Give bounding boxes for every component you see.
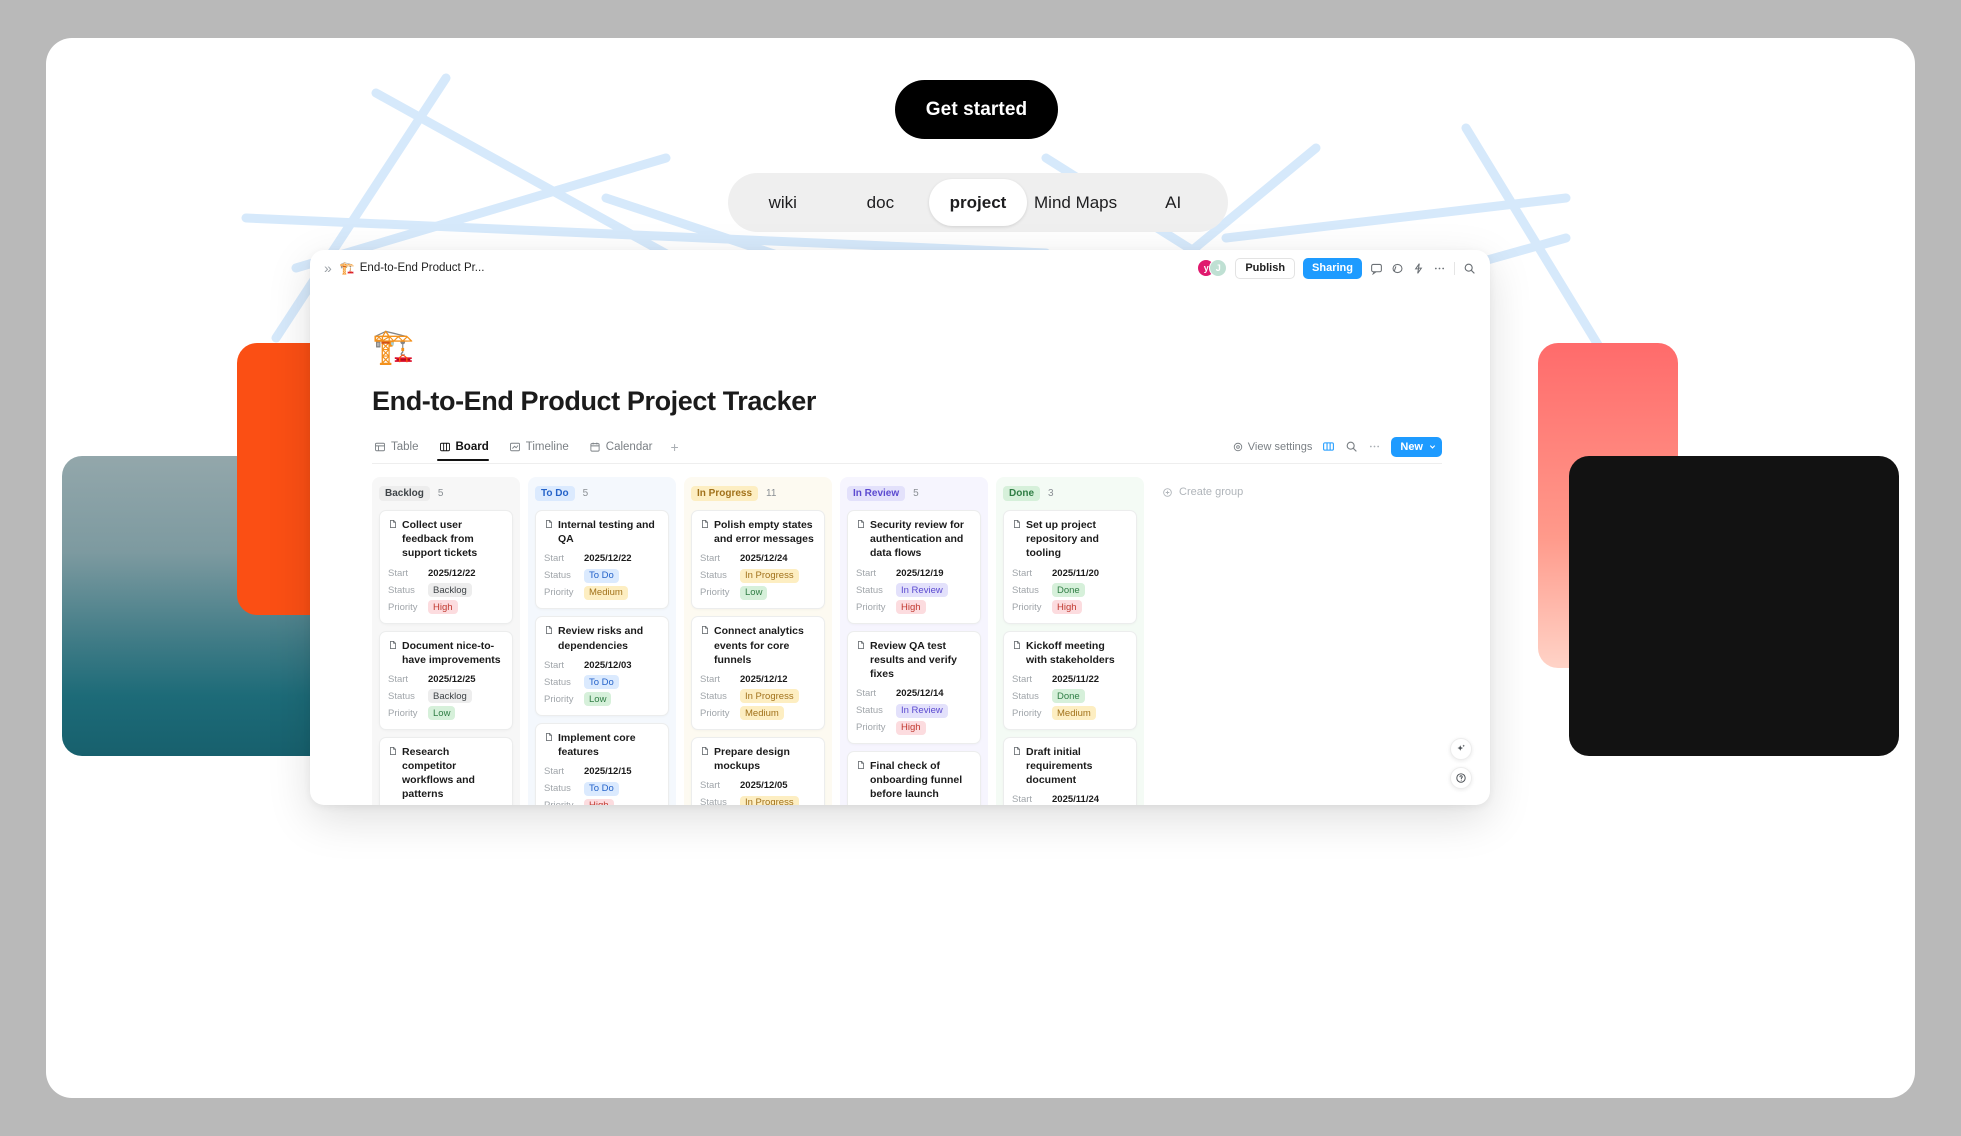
page-icon	[388, 746, 398, 756]
card-property-status: StatusIn Progress	[700, 568, 816, 583]
page-icon	[388, 640, 398, 650]
column-name: Done	[1003, 486, 1040, 501]
card-property-status: StatusTo Do	[544, 781, 660, 796]
card-title: Security review for authentication and d…	[856, 518, 972, 561]
page-icon	[856, 760, 866, 770]
question-mark-icon	[1455, 772, 1467, 784]
nav-tab-project[interactable]: project	[929, 179, 1027, 226]
column-count: 5	[913, 488, 919, 499]
tag: Low	[740, 586, 767, 600]
card-property-start: Start2025/11/20	[1012, 566, 1128, 581]
tag: High	[896, 721, 926, 735]
board-card[interactable]: Research competitor workflows and patter…	[379, 737, 513, 805]
tag: In Progress	[740, 569, 799, 583]
property-label: Priority	[856, 722, 896, 733]
timeline-icon	[509, 441, 521, 453]
create-group-label: Create group	[1179, 486, 1243, 498]
page-icon	[388, 519, 398, 529]
card-property-priority: PriorityMedium	[700, 706, 816, 721]
tab-timeline[interactable]: Timeline	[507, 441, 579, 460]
card-property-status: StatusBacklog	[388, 583, 504, 598]
property-value: 2025/12/22	[428, 568, 476, 579]
page-icon	[544, 519, 554, 529]
property-label: Status	[700, 691, 740, 702]
card-title: Research competitor workflows and patter…	[388, 745, 504, 802]
card-property-status: StatusIn Review	[856, 703, 972, 718]
calendar-icon	[589, 441, 601, 453]
new-record-button[interactable]: New	[1391, 437, 1442, 457]
toolbar-divider	[1454, 262, 1455, 275]
board-card[interactable]: Prepare design mockupsStart2025/12/05Sta…	[691, 737, 825, 805]
property-value: 2025/11/22	[1052, 674, 1099, 685]
tag: Medium	[1052, 706, 1096, 720]
property-label: Start	[544, 766, 584, 777]
highlighter-icon[interactable]	[1391, 262, 1404, 275]
card-title: Polish empty states and error messages	[700, 518, 816, 546]
card-property-start: Start2025/12/03	[544, 658, 660, 673]
page-icon	[1012, 519, 1022, 529]
board-column: In Progress11Polish empty states and err…	[684, 477, 832, 805]
card-property-priority: PriorityMedium	[1012, 706, 1128, 721]
table-icon	[374, 441, 386, 453]
property-label: Status	[544, 677, 584, 688]
card-property-status: StatusIn Progress	[700, 689, 816, 704]
property-value: 2025/12/24	[740, 553, 788, 564]
property-value: 2025/12/14	[896, 688, 944, 699]
tab-board[interactable]: Board	[437, 441, 499, 460]
column-header[interactable]: Backlog5	[379, 484, 513, 503]
property-label: Start	[700, 553, 740, 564]
property-label: Priority	[388, 708, 428, 719]
help-button[interactable]	[1450, 767, 1472, 789]
kanban-board: Backlog5Collect user feedback from suppo…	[372, 477, 1490, 805]
board-column: In Review5Security review for authentica…	[840, 477, 988, 805]
property-label: Status	[856, 585, 896, 596]
property-label: Priority	[544, 694, 584, 705]
ai-sparkle-button[interactable]	[1450, 738, 1472, 760]
card-property-priority: PriorityHigh	[388, 600, 504, 615]
board-column: Backlog5Collect user feedback from suppo…	[372, 477, 520, 805]
view-controls: View settings	[1232, 437, 1442, 464]
card-title: Review risks and dependencies	[544, 624, 660, 652]
card-property-start: Start2025/12/05	[700, 778, 816, 793]
property-label: Priority	[388, 602, 428, 613]
property-value: 2025/12/25	[428, 674, 476, 685]
page-icon	[1012, 746, 1022, 756]
card-property-status: StatusBacklog	[388, 689, 504, 704]
card-property-status: StatusTo Do	[544, 675, 660, 690]
property-label: Start	[544, 553, 584, 564]
card-property-start: Start2025/12/25	[388, 672, 504, 687]
property-label: Start	[856, 568, 896, 579]
card-title: Set up project repository and tooling	[1012, 518, 1128, 561]
view-tabs-bar: Table Board Timeline	[372, 437, 1442, 464]
property-label: Status	[700, 570, 740, 581]
page-icon	[856, 519, 866, 529]
board-card[interactable]: Internal testing and QAStart2025/12/22St…	[535, 510, 669, 609]
product-nav[interactable]: wiki doc project Mind Maps AI	[728, 173, 1228, 232]
card-property-priority: PriorityLow	[544, 692, 660, 707]
tag: Low	[584, 692, 611, 706]
property-label: Status	[1012, 585, 1052, 596]
tag: Low	[428, 706, 455, 720]
card-property-priority: PriorityHigh	[856, 720, 972, 735]
card-property-priority: PriorityHigh	[544, 798, 660, 805]
breadcrumb[interactable]: 🏗️ End-to-End Product Pr...	[340, 261, 485, 275]
property-label: Start	[700, 780, 740, 791]
card-property-start: Start2025/12/15	[544, 764, 660, 779]
tag: Done	[1052, 583, 1085, 597]
property-label: Start	[1012, 568, 1052, 579]
document-emoji-icon: 🏗️	[372, 330, 1490, 364]
card-property-status: StatusIn Progress	[700, 795, 816, 805]
card-property-start: Start2025/12/22	[388, 566, 504, 581]
property-label: Status	[856, 705, 896, 716]
card-title: Prepare design mockups	[700, 745, 816, 773]
property-label: Priority	[1012, 708, 1052, 719]
board-card[interactable]: Connect analytics events for core funnel…	[691, 616, 825, 730]
tag: High	[1052, 600, 1082, 614]
card-title: Final check of onboarding funnel before …	[856, 759, 972, 802]
publish-button[interactable]: Publish	[1235, 258, 1295, 279]
tag: High	[428, 600, 458, 614]
tag: In Review	[896, 583, 948, 597]
tag: To Do	[584, 782, 619, 796]
property-label: Status	[388, 585, 428, 596]
property-label: Status	[1012, 691, 1052, 702]
card-property-start: Start2025/12/14	[856, 686, 972, 701]
background-image-dark	[1569, 456, 1899, 756]
property-value: 2025/12/12	[740, 674, 788, 685]
board-card[interactable]: Kickoff meeting with stakeholdersStart20…	[1003, 631, 1137, 730]
property-label: Start	[544, 660, 584, 671]
tab-board-label: Board	[456, 441, 489, 453]
page-icon	[1012, 640, 1022, 650]
card-property-start: Start2025/12/22	[544, 551, 660, 566]
more-options-icon[interactable]	[1433, 262, 1446, 275]
breadcrumb-label: End-to-End Product Pr...	[360, 262, 485, 274]
tag: In Progress	[740, 689, 799, 703]
tag: High	[584, 799, 614, 805]
view-settings-label: View settings	[1248, 441, 1313, 453]
gear-icon	[1232, 441, 1244, 453]
tag: High	[896, 600, 926, 614]
property-value: 2025/12/03	[584, 660, 632, 671]
tag: In Review	[896, 704, 948, 718]
card-property-status: StatusDone	[1012, 689, 1128, 704]
tab-calendar-label: Calendar	[606, 441, 653, 453]
property-label: Start	[388, 568, 428, 579]
add-view-icon[interactable]: +	[670, 439, 678, 462]
page-icon	[544, 625, 554, 635]
property-label: Start	[856, 688, 896, 699]
tab-table-label: Table	[391, 441, 419, 453]
page-icon	[700, 746, 710, 756]
board-card[interactable]: Polish empty states and error messagesSt…	[691, 510, 825, 609]
plus-circle-icon	[1162, 487, 1173, 498]
card-title: Draft initial requirements document	[1012, 745, 1128, 788]
tag: Medium	[584, 586, 628, 600]
column-name: In Progress	[691, 486, 758, 501]
create-group-button[interactable]: Create group	[1152, 477, 1253, 507]
lightning-icon[interactable]	[1412, 262, 1425, 275]
chevron-down-icon	[1428, 442, 1437, 451]
property-label: Status	[544, 570, 584, 581]
board-card[interactable]: Final check of onboarding funnel before …	[847, 751, 981, 805]
tab-calendar[interactable]: Calendar	[587, 441, 663, 460]
sparkle-icon	[1455, 743, 1467, 755]
property-label: Start	[1012, 794, 1052, 805]
board-column: To Do5Internal testing and QAStart2025/1…	[528, 477, 676, 805]
tag: To Do	[584, 675, 619, 689]
property-label: Priority	[856, 602, 896, 613]
board-card[interactable]: Set up project repository and toolingSta…	[1003, 510, 1137, 624]
page-root: Get started wiki doc project Mind Maps A…	[0, 0, 1961, 1136]
board-card[interactable]: Security review for authentication and d…	[847, 510, 981, 624]
tab-timeline-label: Timeline	[526, 441, 569, 453]
card-title: Kickoff meeting with stakeholders	[1012, 639, 1128, 667]
board-card[interactable]: Review risks and dependenciesStart2025/1…	[535, 616, 669, 715]
property-label: Priority	[1012, 602, 1052, 613]
page-icon	[544, 732, 554, 742]
view-more-icon[interactable]	[1368, 440, 1381, 453]
column-header[interactable]: Done3	[1003, 484, 1137, 503]
tag: In Progress	[740, 796, 799, 805]
property-value: 2025/12/15	[584, 766, 632, 777]
card-title: Collect user feedback from support ticke…	[388, 518, 504, 561]
tab-table[interactable]: Table	[372, 441, 429, 460]
board-card[interactable]: Implement core featuresStart2025/12/15St…	[535, 723, 669, 805]
property-value: 2025/12/05	[740, 780, 788, 791]
property-label: Priority	[700, 587, 740, 598]
tag: Backlog	[428, 689, 472, 703]
column-header[interactable]: In Progress11	[691, 484, 825, 503]
nav-tab-wiki[interactable]: wiki	[734, 179, 832, 226]
page-icon	[856, 640, 866, 650]
hero-card: Get started wiki doc project Mind Maps A…	[46, 38, 1915, 1098]
card-title: Review QA test results and verify fixes	[856, 639, 972, 682]
tag: Medium	[740, 706, 784, 720]
expand-sidebar-icon[interactable]: »	[324, 260, 330, 276]
nav-tab-doc[interactable]: doc	[832, 179, 930, 226]
card-property-start: Start2025/12/12	[700, 672, 816, 687]
property-label: Start	[1012, 674, 1052, 685]
board-column: Done3Set up project repository and tooli…	[996, 477, 1144, 805]
comment-icon[interactable]	[1370, 262, 1383, 275]
topbar-actions: y J Publish Sharing	[1197, 258, 1476, 279]
card-title: Connect analytics events for core funnel…	[700, 624, 816, 667]
get-started-button[interactable]: Get started	[895, 80, 1058, 139]
card-property-start: Start2025/11/24	[1012, 792, 1128, 805]
board-card[interactable]: Collect user feedback from support ticke…	[379, 510, 513, 624]
view-settings-button[interactable]: View settings	[1232, 441, 1313, 453]
new-record-label: New	[1400, 441, 1423, 453]
card-property-status: StatusDone	[1012, 583, 1128, 598]
card-property-status: StatusIn Review	[856, 583, 972, 598]
breadcrumb-emoji-icon: 🏗️	[340, 261, 355, 275]
card-property-priority: PriorityLow	[700, 585, 816, 600]
column-header[interactable]: To Do5	[535, 484, 669, 503]
card-property-start: Start2025/12/24	[700, 551, 816, 566]
document-body: 🏗️ End-to-End Product Project Tracker Ta…	[310, 286, 1490, 805]
property-label: Start	[388, 674, 428, 685]
column-count: 5	[583, 488, 589, 499]
property-value: 2025/12/19	[896, 568, 944, 579]
column-header[interactable]: In Review5	[847, 484, 981, 503]
page-title: End-to-End Product Project Tracker	[372, 386, 1490, 417]
page-icon	[700, 519, 710, 529]
tag: Done	[1052, 689, 1085, 703]
card-property-status: StatusTo Do	[544, 568, 660, 583]
column-count: 11	[766, 488, 776, 499]
property-label: Status	[700, 797, 740, 805]
group-by-icon[interactable]	[1322, 440, 1335, 453]
avatar-group[interactable]: y J	[1197, 259, 1227, 277]
column-count: 5	[438, 488, 444, 499]
search-icon[interactable]	[1463, 262, 1476, 275]
card-title: Document nice-to-have improvements	[388, 639, 504, 667]
card-property-start: Start2025/11/22	[1012, 672, 1128, 687]
card-property-priority: PriorityHigh	[1012, 600, 1128, 615]
search-view-icon[interactable]	[1345, 440, 1358, 453]
card-property-priority: PriorityMedium	[544, 585, 660, 600]
property-label: Priority	[700, 708, 740, 719]
board-icon	[439, 441, 451, 453]
board-card[interactable]: Review QA test results and verify fixesS…	[847, 631, 981, 745]
floating-actions	[1450, 738, 1472, 789]
property-label: Start	[700, 674, 740, 685]
property-label: Status	[388, 691, 428, 702]
card-property-priority: PriorityHigh	[856, 600, 972, 615]
column-name: To Do	[535, 486, 575, 501]
app-window: » 🏗️ End-to-End Product Pr... y J Publis…	[310, 250, 1490, 805]
board-card[interactable]: Document nice-to-have improvementsStart2…	[379, 631, 513, 730]
page-icon	[700, 625, 710, 635]
card-title: Implement core features	[544, 731, 660, 759]
card-property-priority: PriorityLow	[388, 706, 504, 721]
avatar[interactable]: J	[1209, 259, 1227, 277]
property-value: 2025/12/22	[584, 553, 632, 564]
card-title: Internal testing and QA	[544, 518, 660, 546]
column-name: In Review	[847, 486, 905, 501]
sharing-button[interactable]: Sharing	[1303, 258, 1362, 279]
tag: Backlog	[428, 583, 472, 597]
property-label: Priority	[544, 800, 584, 805]
property-value: 2025/11/20	[1052, 568, 1099, 579]
column-count: 3	[1048, 488, 1054, 499]
nav-tab-mind-maps[interactable]: Mind Maps	[1027, 179, 1125, 226]
tag: To Do	[584, 569, 619, 583]
property-value: 2025/11/24	[1052, 794, 1099, 805]
board-card[interactable]: Draft initial requirements documentStart…	[1003, 737, 1137, 805]
property-label: Priority	[544, 587, 584, 598]
app-topbar: » 🏗️ End-to-End Product Pr... y J Publis…	[310, 250, 1490, 286]
column-name: Backlog	[379, 486, 430, 501]
nav-tab-ai[interactable]: AI	[1124, 179, 1222, 226]
card-property-start: Start2025/12/19	[856, 566, 972, 581]
property-label: Status	[544, 783, 584, 794]
